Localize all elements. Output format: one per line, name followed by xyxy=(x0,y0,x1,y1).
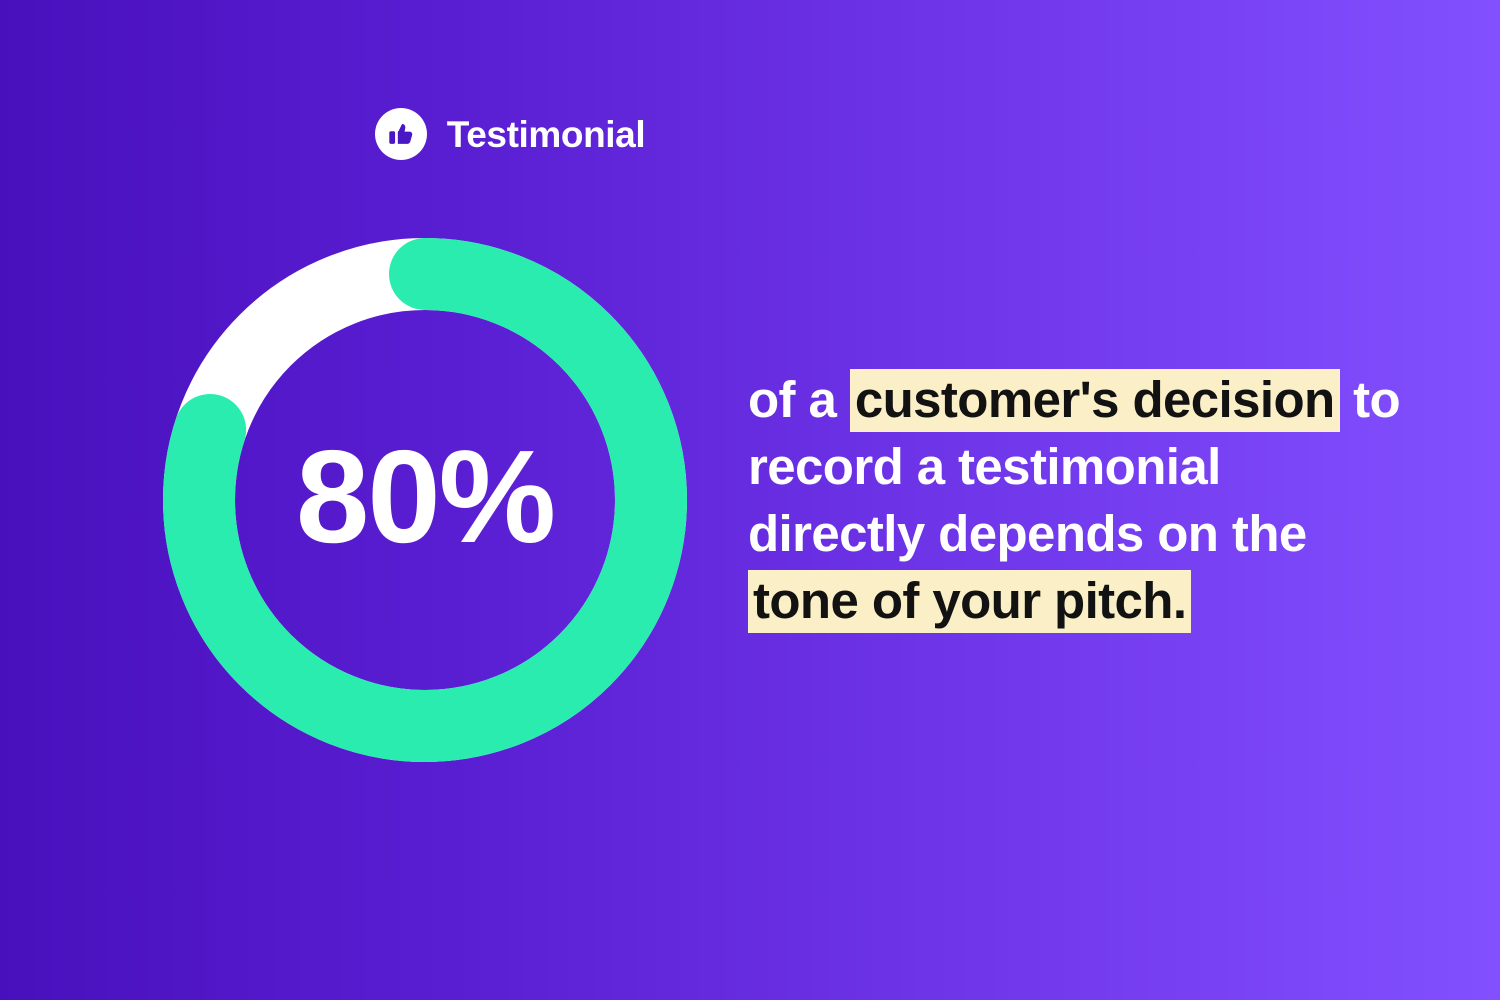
statement-line-4: tone of your pitch. xyxy=(748,567,1388,634)
donut-center-label: 80% xyxy=(163,238,687,762)
statement-line-3: directly depends on the xyxy=(748,500,1388,567)
header-title: Testimonial xyxy=(447,116,645,153)
statement-line-2: record a testimonial xyxy=(748,433,1388,500)
header: Testimonial xyxy=(0,108,1260,160)
statement-line-2-text: record a testimonial xyxy=(748,438,1221,495)
infographic-canvas: Testimonial 80% of a customer's decision… xyxy=(0,0,1500,1000)
statement-line-1: of a customer's decision to xyxy=(748,366,1388,433)
statement-line-1-post: to xyxy=(1340,371,1401,428)
statement-highlight-1: customer's decision xyxy=(850,369,1340,432)
statement-text: of a customer's decision to record a tes… xyxy=(748,366,1388,634)
statement-line-1-pre: of a xyxy=(748,371,850,428)
thumbs-up-icon xyxy=(375,108,427,160)
statement-line-3-text: directly depends on the xyxy=(748,505,1307,562)
statement-highlight-2: tone of your pitch. xyxy=(748,570,1191,633)
donut-chart: 80% xyxy=(163,238,687,762)
